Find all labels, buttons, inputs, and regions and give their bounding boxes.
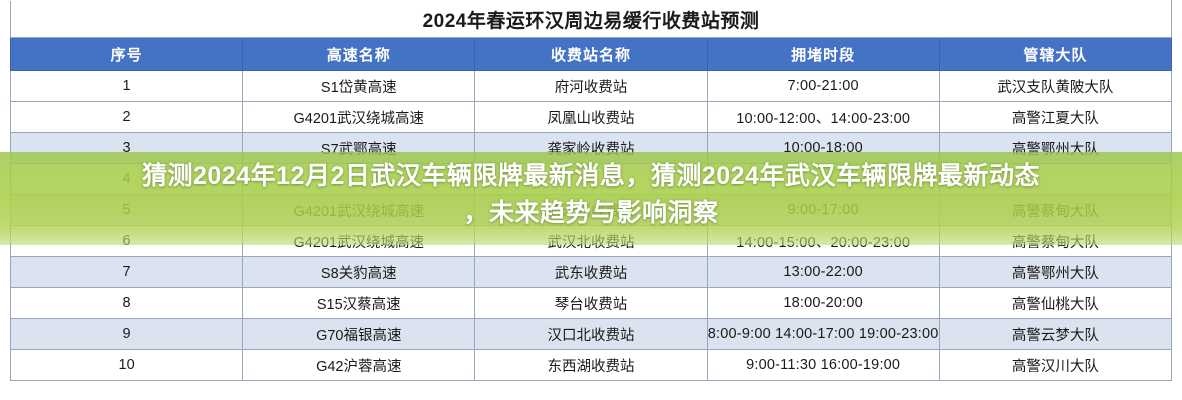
cell-index: 3 xyxy=(11,133,243,164)
toll-station-forecast-table: 2024年春运环汉周边易缓行收费站预测 序号 高速名称 收费站名称 拥堵时段 管… xyxy=(10,0,1172,381)
cell-highway: G42沪蓉高速 xyxy=(243,350,475,381)
cell-toll-station: 府河收费站 xyxy=(475,71,707,102)
screenshot-root: 2024年春运环汉周边易缓行收费站预测 序号 高速名称 收费站名称 拥堵时段 管… xyxy=(0,0,1182,400)
cell-index: 1 xyxy=(11,71,243,102)
cell-squad xyxy=(939,164,1171,195)
cell-squad: 武汉支队黄陂大队 xyxy=(939,71,1171,102)
table-row: 1 S1岱黄高速 府河收费站 7:00-21:00 武汉支队黄陂大队 xyxy=(11,71,1172,102)
cell-toll-station: 武汉北收费站 xyxy=(475,226,707,257)
table-row: 5 G4201武汉绕城高速 武汉西收费站 9:00-17:00 高警蔡甸大队 xyxy=(11,195,1172,226)
cell-congestion: 9:00-11:30 16:00-19:00 xyxy=(707,350,939,381)
cell-index: 5 xyxy=(11,195,243,226)
cell-squad: 高警鄂州大队 xyxy=(939,133,1171,164)
cell-squad: 高警汉川大队 xyxy=(939,350,1171,381)
table-header-row: 序号 高速名称 收费站名称 拥堵时段 管辖大队 xyxy=(11,38,1172,71)
cell-congestion: 10:00-12:00、14:00-23:00 xyxy=(707,102,939,133)
cell-index: 4 xyxy=(11,164,243,195)
cell-congestion: 10:00-18:00 xyxy=(707,133,939,164)
table-row: 8 S15汉蔡高速 琴台收费站 18:00-20:00 高警仙桃大队 xyxy=(11,288,1172,319)
cell-squad: 高警仙桃大队 xyxy=(939,288,1171,319)
cell-highway: G4201武汉绕城高速 xyxy=(243,195,475,226)
cell-squad: 高警江夏大队 xyxy=(939,102,1171,133)
cell-congestion xyxy=(707,164,939,195)
cell-congestion: 8:00-9:00 14:00-17:00 19:00-23:00 xyxy=(707,319,939,350)
cell-congestion: 7:00-21:00 xyxy=(707,71,939,102)
cell-highway: S15汉蔡高速 xyxy=(243,288,475,319)
column-header-congestion: 拥堵时段 xyxy=(707,38,939,71)
cell-toll-station: 凤凰山收费站 xyxy=(475,102,707,133)
cell-toll-station: 武汉西收费站 xyxy=(475,195,707,226)
cell-index: 9 xyxy=(11,319,243,350)
column-header-squad: 管辖大队 xyxy=(939,38,1171,71)
cell-highway: S7武鄂高速 xyxy=(243,133,475,164)
cell-toll-station: 龚家岭收费站 xyxy=(475,133,707,164)
cell-toll-station: 东西湖收费站 xyxy=(475,350,707,381)
cell-toll-station: 武东收费站 xyxy=(475,257,707,288)
table-row: 9 G70福银高速 汉口北收费站 8:00-9:00 14:00-17:00 1… xyxy=(11,319,1172,350)
cell-index: 8 xyxy=(11,288,243,319)
table-row: 4 xyxy=(11,164,1172,195)
cell-highway: S8关豹高速 xyxy=(243,257,475,288)
cell-congestion: 13:00-22:00 xyxy=(707,257,939,288)
cell-squad: 高警云梦大队 xyxy=(939,319,1171,350)
table-row: 3 S7武鄂高速 龚家岭收费站 10:00-18:00 高警鄂州大队 xyxy=(11,133,1172,164)
table-row: 2 G4201武汉绕城高速 凤凰山收费站 10:00-12:00、14:00-2… xyxy=(11,102,1172,133)
column-header-index: 序号 xyxy=(11,38,243,71)
cell-congestion: 14:00-15:00、20:00-23:00 xyxy=(707,226,939,257)
cell-toll-station: 汉口北收费站 xyxy=(475,319,707,350)
cell-highway xyxy=(243,164,475,195)
table-title-row: 2024年春运环汉周边易缓行收费站预测 xyxy=(11,1,1172,38)
cell-toll-station xyxy=(475,164,707,195)
column-header-toll-station: 收费站名称 xyxy=(475,38,707,71)
cell-highway: G70福银高速 xyxy=(243,319,475,350)
cell-highway: S1岱黄高速 xyxy=(243,71,475,102)
cell-highway: G4201武汉绕城高速 xyxy=(243,226,475,257)
cell-squad: 高警鄂州大队 xyxy=(939,257,1171,288)
cell-index: 6 xyxy=(11,226,243,257)
cell-index: 2 xyxy=(11,102,243,133)
cell-squad: 高警蔡甸大队 xyxy=(939,226,1171,257)
column-header-highway: 高速名称 xyxy=(243,38,475,71)
cell-congestion: 9:00-17:00 xyxy=(707,195,939,226)
cell-index: 10 xyxy=(11,350,243,381)
cell-toll-station: 琴台收费站 xyxy=(475,288,707,319)
page-title: 2024年春运环汉周边易缓行收费站预测 xyxy=(11,1,1172,38)
table-row: 10 G42沪蓉高速 东西湖收费站 9:00-11:30 16:00-19:00… xyxy=(11,350,1172,381)
cell-highway: G4201武汉绕城高速 xyxy=(243,102,475,133)
cell-congestion: 18:00-20:00 xyxy=(707,288,939,319)
table-row: 6 G4201武汉绕城高速 武汉北收费站 14:00-15:00、20:00-2… xyxy=(11,226,1172,257)
cell-squad: 高警蔡甸大队 xyxy=(939,195,1171,226)
table-row: 7 S8关豹高速 武东收费站 13:00-22:00 高警鄂州大队 xyxy=(11,257,1172,288)
cell-index: 7 xyxy=(11,257,243,288)
